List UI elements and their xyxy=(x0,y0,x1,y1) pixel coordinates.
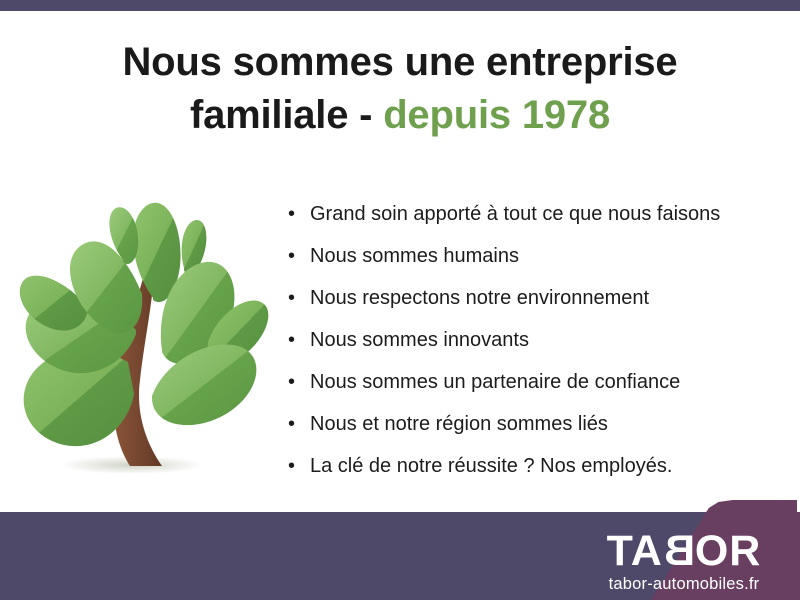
title-line-1: Nous sommes une entreprise xyxy=(0,36,800,89)
list-item: • La clé de notre réussite ? Nos employé… xyxy=(286,445,766,487)
value-bullet-list: • Grand soin apporté à tout ce que nous … xyxy=(286,193,766,487)
bullet-marker-icon: • xyxy=(288,235,295,277)
top-accent-bar xyxy=(0,0,800,11)
list-item: • Nous sommes humains xyxy=(286,235,766,277)
list-item: • Nous respectons notre environnement xyxy=(286,277,766,319)
bullet-marker-icon: • xyxy=(288,403,295,445)
bullet-marker-icon: • xyxy=(288,361,295,403)
bullet-marker-icon: • xyxy=(288,445,295,487)
list-item: • Nous sommes un partenaire de confiance xyxy=(286,361,766,403)
page-title: Nous sommes une entreprise familiale - d… xyxy=(0,36,800,142)
list-item-label: La clé de notre réussite ? Nos employés. xyxy=(310,455,672,477)
list-item-label: Nous et notre région sommes liés xyxy=(310,413,608,435)
list-item-label: Grand soin apporté à tout ce que nous fa… xyxy=(310,203,720,225)
brand-wordmark-part-2: OR xyxy=(695,527,762,575)
brand-wordmark-mirrored-b: B xyxy=(663,530,695,573)
list-item: • Grand soin apporté à tout ce que nous … xyxy=(286,193,766,235)
title-line-2: familiale - depuis 1978 xyxy=(0,89,800,142)
brand-logo[interactable]: TABOR tabor-automobiles.fr xyxy=(580,530,788,593)
list-item: • Nous sommes innovants xyxy=(286,319,766,361)
bullet-marker-icon: • xyxy=(288,319,295,361)
brand-wordmark-part-1: TA xyxy=(607,527,663,575)
bullet-marker-icon: • xyxy=(288,193,295,235)
title-line-2-accent: depuis 1978 xyxy=(383,93,610,137)
tree-illustration xyxy=(12,182,280,482)
bullet-marker-icon: • xyxy=(288,277,295,319)
list-item-label: Nous sommes humains xyxy=(310,245,519,267)
slide-canvas: Nous sommes une entreprise familiale - d… xyxy=(0,0,800,600)
title-line-2-plain: familiale - xyxy=(190,93,383,137)
list-item-label: Nous sommes un partenaire de confiance xyxy=(310,371,680,393)
list-item: • Nous et notre région sommes liés xyxy=(286,403,766,445)
brand-wordmark: TABOR xyxy=(580,530,788,573)
list-item-label: Nous sommes innovants xyxy=(310,329,529,351)
list-item-label: Nous respectons notre environnement xyxy=(310,287,649,309)
brand-website-url[interactable]: tabor-automobiles.fr xyxy=(580,576,788,593)
